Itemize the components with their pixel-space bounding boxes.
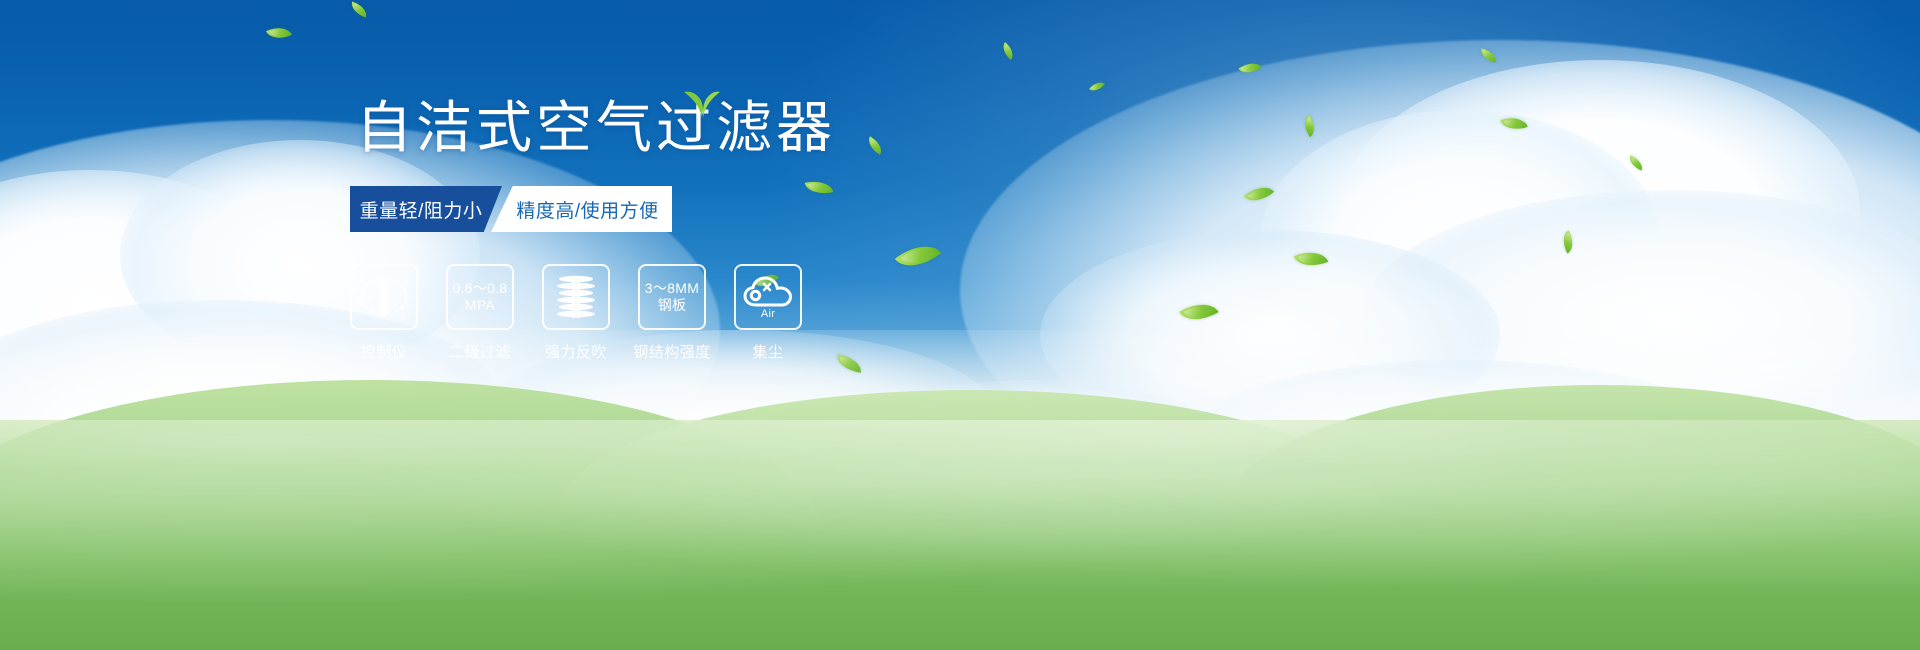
feature-box-blowback <box>542 264 610 330</box>
air-label: Air <box>761 308 775 320</box>
pressure-range-text: 0.6～0.8 <box>452 280 507 297</box>
grass-shading <box>0 530 1920 650</box>
grass-hill-left <box>0 380 820 530</box>
steel-thickness-text: 3～8MM <box>645 280 699 297</box>
feature-label-control: 控制仪 <box>361 341 408 362</box>
title-leaf-decoration <box>682 88 722 120</box>
feature-item-blowback[interactable]: 强力反吹 <box>542 264 610 362</box>
badge-lightweight: 重量轻/阻力小 <box>350 186 502 232</box>
feature-item-control[interactable]: NO OFF 控制仪 <box>350 264 418 362</box>
feature-box-pressure: 0.6～0.8 MPA <box>446 264 514 330</box>
knob-label-on: NO <box>356 298 366 304</box>
feature-label-dust: 集尘 <box>752 341 783 362</box>
banner-content: 自洁式空气过滤器 重量轻/阻力小 精度高/使用方便 <box>350 100 1070 362</box>
pressure-unit-text: MPA <box>465 297 495 314</box>
product-banner: 自洁式空气过滤器 重量轻/阻力小 精度高/使用方便 <box>0 0 1920 650</box>
feature-label-steel: 钢结构强度 <box>633 341 711 362</box>
filter-coil-icon <box>553 272 599 322</box>
feature-icon-row: NO OFF 控制仪 0.6～0.8 MPA 二级过滤 <box>350 264 1070 362</box>
feature-box-steel: 3～8MM 钢板 <box>638 264 706 330</box>
feature-item-dust[interactable]: Air 集尘 <box>734 264 802 362</box>
feature-item-pressure[interactable]: 0.6～0.8 MPA 二级过滤 <box>446 264 514 362</box>
feature-label-blowback: 强力反吹 <box>545 341 607 362</box>
knob-label-off: OFF <box>399 314 412 320</box>
feature-box-dust: Air <box>734 264 802 330</box>
tagline-badges: 重量轻/阻力小 精度高/使用方便 <box>350 186 675 232</box>
grass-hill-center <box>560 390 1380 510</box>
steel-material-text: 钢板 <box>658 297 687 314</box>
feature-item-steel[interactable]: 3～8MM 钢板 钢结构强度 <box>638 264 706 362</box>
control-knob-icon: NO OFF <box>357 273 411 321</box>
feature-box-control: NO OFF <box>350 264 418 330</box>
grass-hill-right <box>1220 385 1920 520</box>
feature-label-pressure: 二级过滤 <box>449 341 511 362</box>
badge-precision: 精度高/使用方便 <box>491 186 672 232</box>
air-cloud-icon <box>743 275 793 307</box>
grass-field <box>0 420 1920 650</box>
